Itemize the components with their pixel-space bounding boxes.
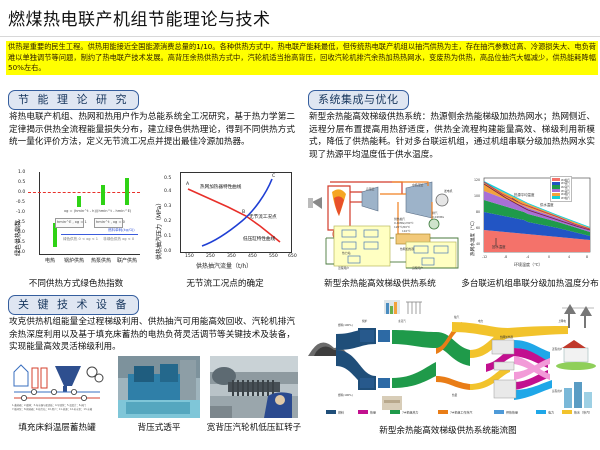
svg-text:7#机组热力: 7#机组热力 bbox=[402, 410, 418, 415]
caption-waste-heat-system: 新型余热能高效梯级供热系统 bbox=[300, 277, 460, 289]
svg-text:近程用户: 近程用户 bbox=[552, 347, 563, 351]
svg-text:热量: 热量 bbox=[370, 410, 376, 415]
annotation-formula: xg = (hmin^t - h)/(hmin^t - hmin^E) bbox=[64, 209, 131, 213]
svg-text:热源平均温度: 热源平均温度 bbox=[514, 192, 535, 197]
ytick: -2.0 bbox=[16, 230, 25, 235]
svg-text:0.02MPa: 0.02MPa bbox=[432, 215, 444, 219]
legend-label: #3抽汽 bbox=[561, 196, 570, 200]
chart-green-index: 绿色供热指数 1.0 0.5 0.0 -0.5 -1.0 -1.5 -2.0 -… bbox=[8, 168, 144, 272]
svg-text:高压缸: 高压缸 bbox=[366, 187, 375, 191]
svg-text:热网加热器: 热网加热器 bbox=[500, 335, 513, 339]
svg-text:4: 4 bbox=[568, 255, 570, 259]
fuel-axis bbox=[61, 234, 138, 235]
annotation-green: 绿色供热 0 < xg < 1 bbox=[63, 237, 98, 242]
point-label-A: A bbox=[186, 182, 189, 187]
svg-text:热网加热器: 热网加热器 bbox=[400, 247, 414, 251]
svg-text:回水温度: 回水温度 bbox=[492, 244, 506, 249]
svg-text:120: 120 bbox=[474, 178, 480, 182]
chart-temp-ylabel: 热网水温度（°C） bbox=[470, 218, 476, 256]
bar-lianchan bbox=[125, 178, 129, 205]
figure-thermal-storage-tank: 1-蓄热器；2-罐体；3-布水器与配流板；4-导流管；5-温度计；6-阀门 7-… bbox=[8, 356, 106, 418]
ytick: -0.5 bbox=[16, 200, 25, 205]
series-label-lp: 低压缸特性曲线 bbox=[243, 236, 275, 242]
svg-text:7-循环泵；8-换热器；9-热力站；10-用户；11-热源；: 7-循环泵；8-换热器；9-热力站；10-用户；11-热源；12-补水泵；13-… bbox=[12, 407, 93, 411]
xtick-guolu: 锅炉供热 bbox=[64, 257, 84, 264]
ytick: -1.0 bbox=[16, 210, 25, 215]
caption-sankey: 新型余热能高效梯级供热系统能流图 bbox=[300, 424, 596, 436]
svg-text:电力: 电力 bbox=[478, 319, 484, 323]
svg-text:7#机组工作蒸汽: 7#机组工作蒸汽 bbox=[450, 410, 472, 415]
svg-text:热力站: 热力站 bbox=[342, 251, 351, 255]
section-text-integration: 新型余热能高效梯级供热系统：热源侧余热能梯级加热热网水；热网侧近、远程分层布置提… bbox=[309, 111, 595, 161]
section-heading-integration: 系统集成与优化 bbox=[308, 90, 409, 110]
svg-text:抽汽: 抽汽 bbox=[454, 315, 460, 319]
section-text-equipment: 攻克供热机组能量全过程梯级利用、供热抽汽可用能高效回收、汽轮机排汽余热深度利用以… bbox=[9, 316, 295, 354]
abstract-highlight: 供热是重要的民生工程。供热用能接近全国能源消费总量的1/10。各种供热方式中，热… bbox=[6, 41, 598, 75]
point-label-B: B bbox=[242, 210, 245, 215]
svg-text:远程用户: 远程用户 bbox=[412, 266, 423, 270]
series-label-heater: 热网加热器特性曲线 bbox=[200, 184, 241, 190]
svg-text:8: 8 bbox=[586, 255, 588, 259]
chart-temp-dist: 热网水温度（°C） 120100 806040 -12-8-4 048 环境温度… bbox=[462, 172, 598, 272]
svg-text:燃料(100%): 燃料(100%) bbox=[338, 393, 353, 397]
ytick: 0.0 bbox=[18, 190, 25, 195]
svg-text:供水温度: 供水温度 bbox=[540, 202, 554, 207]
caption-lp-rotor: 宽背压汽轮机低压缸转子 bbox=[206, 421, 302, 433]
xtick-dianre: 电热 bbox=[45, 257, 55, 264]
svg-text:发电机: 发电机 bbox=[444, 189, 453, 193]
chart-throttle-xlabel: 供热抽汽流量（t/h） bbox=[196, 261, 252, 270]
svg-text:远程用户: 远程用户 bbox=[552, 389, 563, 393]
caption-throttle: 无节流工况点的确定 bbox=[150, 277, 300, 289]
svg-text:60: 60 bbox=[476, 226, 480, 230]
ytick: 1.0 bbox=[18, 170, 25, 175]
section-heading-theory: 节 能 理 论 研 究 bbox=[8, 90, 139, 110]
bar-guolu bbox=[77, 196, 81, 208]
ytick: -3.0 bbox=[16, 250, 25, 255]
zero-reference-line bbox=[28, 192, 140, 193]
caption-temp-dist: 多台联运机组串联分级加热温度分布 bbox=[460, 277, 600, 289]
chart-throttle: 供热抽汽压力（MPa） 0.0 0.1 0.2 0.3 0.4 0.5 150 … bbox=[150, 168, 300, 272]
annotation-nongreen: 非绿色供热 xg < 0 bbox=[103, 237, 134, 242]
annotation-hmin-t: hmin^t , xg = 0 bbox=[96, 220, 125, 224]
svg-text:100: 100 bbox=[474, 194, 480, 198]
svg-text:0: 0 bbox=[548, 255, 550, 259]
svg-text:近程用户: 近程用户 bbox=[338, 266, 349, 270]
ytick: -1.5 bbox=[16, 220, 25, 225]
page-title: 燃煤热电联产机组节能理论与技术 bbox=[8, 9, 271, 31]
bar-rebeng bbox=[101, 185, 105, 205]
svg-text:燃料: 燃料 bbox=[338, 410, 344, 415]
annotation-no-throttle: 无节流工况点 bbox=[249, 214, 277, 220]
xtick-rebeng: 热泵供热 bbox=[91, 257, 111, 264]
figure-lp-rotor bbox=[210, 356, 298, 418]
caption-backpressure-turbine: 背压式透平 bbox=[118, 421, 200, 433]
svg-text:1-蓄热器；2-罐体；3-布水器与配流板；4-导流管；5-温: 1-蓄热器；2-罐体；3-布水器与配流板；4-导流管；5-温度计；6-阀门 bbox=[12, 403, 87, 407]
svg-text:-8: -8 bbox=[504, 255, 507, 259]
figure-backpressure-turbine bbox=[118, 356, 200, 418]
y-axis bbox=[39, 172, 40, 254]
legend-row: #3抽汽 bbox=[552, 196, 570, 200]
svg-text:80: 80 bbox=[476, 210, 480, 214]
title-divider bbox=[0, 36, 600, 37]
diagram-sankey: 燃料(100%) 燃料(100%) 锅炉 主蒸汽 抽汽 电力 上网电 热网加热器… bbox=[302, 292, 598, 418]
svg-text:主蒸汽: 主蒸汽 bbox=[398, 319, 406, 323]
svg-text:上网电: 上网电 bbox=[558, 319, 566, 323]
section-text-theory: 将热电联产机组、热网和热用户作为总能系统全工况研究，基于热力学第二定律揭示供热全… bbox=[9, 111, 295, 149]
svg-text:110℃: 110℃ bbox=[402, 229, 410, 233]
annotation-fuel-unit: 燃料单耗(kg/GJ) bbox=[108, 228, 135, 233]
section-heading-equipment: 关 键 技 术 设 备 bbox=[8, 295, 139, 315]
diagram-waste-heat-system: 高压缸 中低压缸 发电机 供热抽汽 0.4MPa/230℃ 120℃/60℃ 排… bbox=[306, 172, 462, 272]
annotation-hmin-e: hmin^E , xg = 1 bbox=[57, 220, 87, 224]
caption-green-index: 不同供热方式绿色热指数 bbox=[8, 277, 144, 289]
poster-root: 燃煤热电联产机组节能理论与技术 供热是重要的民生工程。供热用能接近全国能源消费总… bbox=[0, 0, 600, 450]
svg-text:电力: 电力 bbox=[548, 410, 554, 415]
chart-temp-legend: #4抽汽 #3凝汽 #2凝汽 #1凝汽 #4抽汽 #3抽汽 bbox=[550, 176, 572, 202]
caption-thermal-storage-tank: 填充床斜温层蓄热罐 bbox=[8, 421, 106, 433]
svg-text:供热热量: 供热热量 bbox=[506, 410, 518, 415]
svg-text:热量: 热量 bbox=[452, 393, 458, 397]
ytick: -2.5 bbox=[16, 240, 25, 245]
point-label-C: C bbox=[272, 174, 275, 179]
svg-text:40: 40 bbox=[476, 242, 480, 246]
ytick: 0.5 bbox=[18, 180, 25, 185]
svg-text:环境温度（℃）: 环境温度（℃） bbox=[514, 261, 543, 267]
xtick-lianchan: 联产供热 bbox=[117, 257, 137, 264]
svg-text:锅炉: 锅炉 bbox=[362, 319, 368, 323]
svg-text:-4: -4 bbox=[526, 255, 529, 259]
svg-text:热水（蒸汽）: 热水（蒸汽） bbox=[574, 410, 592, 415]
svg-text:-12: -12 bbox=[482, 255, 487, 259]
svg-text:燃料(100%): 燃料(100%) bbox=[338, 323, 353, 327]
svg-text:中低压缸: 中低压缸 bbox=[412, 183, 423, 187]
x-axis bbox=[39, 254, 140, 255]
